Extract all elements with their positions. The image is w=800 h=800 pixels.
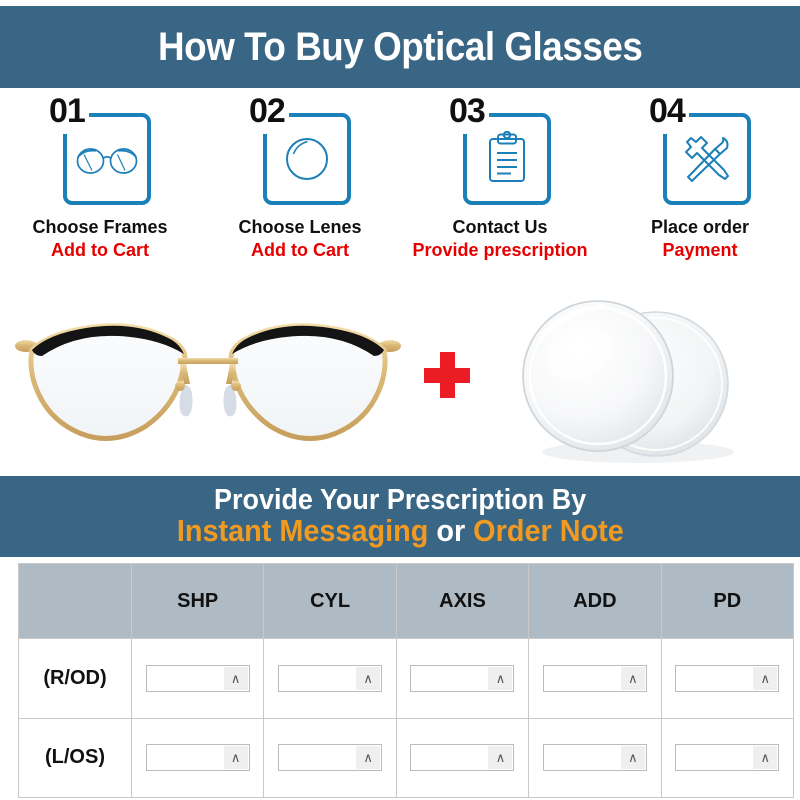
step-02-number: 02 <box>247 94 287 128</box>
left-add-field[interactable]: ∧ <box>543 744 647 771</box>
left-shp-input[interactable] <box>147 745 224 770</box>
cell-left-axis: ∧ <box>396 718 528 798</box>
step-03-subtitle: Provide prescription <box>400 239 600 262</box>
step-04-labels: Place order Payment <box>600 216 800 261</box>
cell-right-axis: ∧ <box>396 639 528 719</box>
step-04-icon-frame: 04 <box>641 96 759 208</box>
step-01-number: 01 <box>47 94 87 128</box>
step-item-03: 03 Cont <box>400 96 600 286</box>
column-header-pd: PD <box>661 564 793 639</box>
right-shp-field[interactable]: ∧ <box>146 665 250 692</box>
cell-right-shp: ∧ <box>132 639 264 719</box>
step-01-title: Choose Frames <box>0 216 200 239</box>
left-axis-stepper-icon[interactable]: ∧ <box>488 746 512 769</box>
plus-vertical-bar <box>440 352 455 398</box>
prescription-banner-line1: Provide Your Prescription By <box>214 485 586 515</box>
step-04-subtitle: Payment <box>600 239 800 262</box>
left-pd-input[interactable] <box>676 745 753 770</box>
right-add-field[interactable]: ∧ <box>543 665 647 692</box>
row-label-right-eye: (R/OD) <box>19 639 132 719</box>
left-shp-field[interactable]: ∧ <box>146 744 250 771</box>
right-add-stepper-icon[interactable]: ∧ <box>621 667 645 690</box>
step-04-title: Place order <box>600 216 800 239</box>
prescription-method-order-note: Order Note <box>473 513 624 548</box>
step-03-labels: Contact Us Provide prescription <box>400 216 600 261</box>
step-01-icon-frame: 01 <box>41 96 159 208</box>
row-label-left-eye: (L/OS) <box>19 718 132 798</box>
cell-right-add: ∧ <box>529 639 661 719</box>
right-cyl-input[interactable] <box>279 666 356 691</box>
column-header-shp: SHP <box>132 564 264 639</box>
cell-left-pd: ∧ <box>661 718 793 798</box>
right-axis-field[interactable]: ∧ <box>410 665 514 692</box>
left-cyl-stepper-icon[interactable]: ∧ <box>356 746 380 769</box>
cell-right-cyl: ∧ <box>264 639 396 719</box>
step-02-labels: Choose Lenes Add to Cart <box>200 216 400 261</box>
left-add-stepper-icon[interactable]: ∧ <box>621 746 645 769</box>
step-item-02: 02 Choose Lenes Add to Cart <box>200 96 400 286</box>
row-label-right-eye-text: (R/OD) <box>43 667 106 689</box>
left-axis-input[interactable] <box>411 745 488 770</box>
eyeglasses-product-image <box>8 298 408 466</box>
table-header-row: SHP CYL AXIS ADD PD <box>19 564 794 639</box>
prescription-method-instant-messaging: Instant Messaging <box>177 513 429 548</box>
prescription-banner-connector: or <box>428 513 473 548</box>
page-title: How To Buy Optical Glasses <box>158 25 642 70</box>
step-item-04: 04 Place order Payment <box>600 96 800 286</box>
right-cyl-field[interactable]: ∧ <box>278 665 382 692</box>
right-pd-stepper-icon[interactable]: ∧ <box>753 667 777 690</box>
prescription-banner: Provide Your Prescription By Instant Mes… <box>0 476 800 557</box>
step-item-01: 01 Choo <box>0 96 200 286</box>
left-add-input[interactable] <box>544 745 621 770</box>
step-04-number: 04 <box>647 94 687 128</box>
cell-left-add: ∧ <box>529 718 661 798</box>
prescription-table: SHP CYL AXIS ADD PD (R/OD) ∧ <box>18 563 794 798</box>
step-01-labels: Choose Frames Add to Cart <box>0 216 200 261</box>
step-02-title: Choose Lenes <box>200 216 400 239</box>
right-cyl-stepper-icon[interactable]: ∧ <box>356 667 380 690</box>
cell-left-cyl: ∧ <box>264 718 396 798</box>
left-axis-field[interactable]: ∧ <box>410 744 514 771</box>
page-header-banner: How To Buy Optical Glasses <box>0 6 800 88</box>
right-axis-input[interactable] <box>411 666 488 691</box>
left-pd-stepper-icon[interactable]: ∧ <box>753 746 777 769</box>
right-axis-stepper-icon[interactable]: ∧ <box>488 667 512 690</box>
plus-symbol-icon <box>424 352 470 398</box>
lenses-product-image <box>488 296 778 468</box>
step-02-icon-frame: 02 <box>241 96 359 208</box>
steps-row: 01 Choo <box>0 96 800 286</box>
step-03-icon-frame: 03 <box>441 96 559 208</box>
column-header-add: ADD <box>529 564 661 639</box>
prescription-banner-line2: Instant Messaging or Order Note <box>177 515 624 548</box>
column-header-axis: AXIS <box>396 564 528 639</box>
prescription-table-head: SHP CYL AXIS ADD PD <box>19 564 794 639</box>
table-row-left-eye: (L/OS) ∧ ∧ ∧ <box>19 718 794 798</box>
step-01-subtitle: Add to Cart <box>0 239 200 262</box>
right-pd-input[interactable] <box>676 666 753 691</box>
left-pd-field[interactable]: ∧ <box>675 744 779 771</box>
right-pd-field[interactable]: ∧ <box>675 665 779 692</box>
cell-right-pd: ∧ <box>661 639 793 719</box>
step-03-title: Contact Us <box>400 216 600 239</box>
step-02-subtitle: Add to Cart <box>200 239 400 262</box>
left-cyl-input[interactable] <box>279 745 356 770</box>
product-showcase-row <box>0 292 800 472</box>
column-header-blank <box>19 564 132 639</box>
right-shp-stepper-icon[interactable]: ∧ <box>224 667 248 690</box>
right-add-input[interactable] <box>544 666 621 691</box>
how-to-buy-optical-glasses-page: How To Buy Optical Glasses 01 <box>0 0 800 800</box>
right-shp-input[interactable] <box>147 666 224 691</box>
cell-left-shp: ∧ <box>132 718 264 798</box>
left-shp-stepper-icon[interactable]: ∧ <box>224 746 248 769</box>
column-header-cyl: CYL <box>264 564 396 639</box>
left-cyl-field[interactable]: ∧ <box>278 744 382 771</box>
row-label-left-eye-text: (L/OS) <box>45 746 105 768</box>
table-row-right-eye: (R/OD) ∧ ∧ ∧ <box>19 639 794 719</box>
prescription-table-body: (R/OD) ∧ ∧ ∧ <box>19 639 794 798</box>
step-03-number: 03 <box>447 94 487 128</box>
